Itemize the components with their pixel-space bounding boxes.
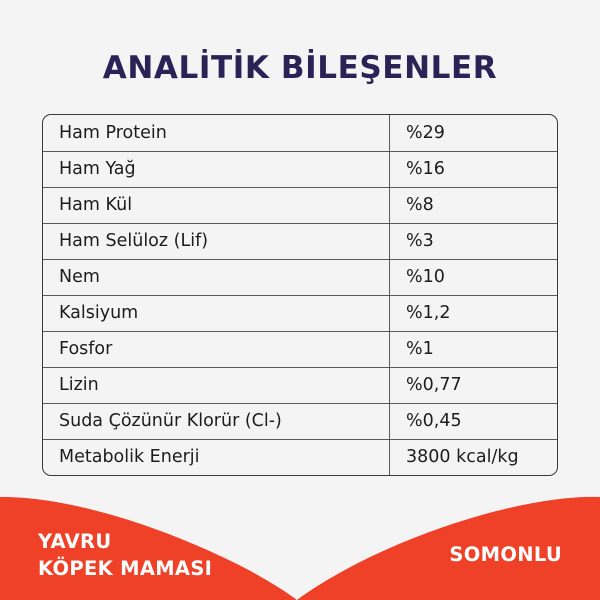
table-row: Ham Yağ %16	[43, 151, 558, 187]
row-label: Suda Çözünür Klorür (Cl-)	[43, 403, 390, 439]
row-label: Ham Yağ	[43, 151, 390, 187]
banner-flavour-label: SOMONLU	[449, 541, 562, 568]
bottom-banner: YAVRU KÖPEK MAMASI SOMONLU	[0, 485, 600, 600]
table-row: Suda Çözünür Klorür (Cl-) %0,45	[43, 403, 558, 439]
row-label: Lizin	[43, 367, 390, 403]
nutrition-table: Ham Protein %29 Ham Yağ %16 Ham Kül %8 H…	[43, 115, 558, 475]
row-label: Ham Kül	[43, 187, 390, 223]
table-row: Ham Selüloz (Lif) %3	[43, 223, 558, 259]
table-row: Nem %10	[43, 259, 558, 295]
banner-product-type: YAVRU KÖPEK MAMASI	[38, 528, 298, 582]
row-value: %10	[390, 259, 559, 295]
row-value: %29	[390, 115, 559, 151]
row-value: %8	[390, 187, 559, 223]
table-row: Kalsiyum %1,2	[43, 295, 558, 331]
row-value: %1,2	[390, 295, 559, 331]
row-value: %0,77	[390, 367, 559, 403]
row-value: %3	[390, 223, 559, 259]
row-label: Fosfor	[43, 331, 390, 367]
nutrition-table-body: Ham Protein %29 Ham Yağ %16 Ham Kül %8 H…	[43, 115, 558, 475]
row-label: Ham Protein	[43, 115, 390, 151]
table-row: Metabolik Enerji 3800 kcal/kg	[43, 439, 558, 475]
row-label: Ham Selüloz (Lif)	[43, 223, 390, 259]
analytical-constituents-table: Ham Protein %29 Ham Yağ %16 Ham Kül %8 H…	[42, 114, 558, 476]
row-value: %16	[390, 151, 559, 187]
row-label: Kalsiyum	[43, 295, 390, 331]
row-value: 3800 kcal/kg	[390, 439, 559, 475]
table-row: Lizin %0,77	[43, 367, 558, 403]
banner-line-1: YAVRU	[38, 528, 298, 555]
row-label: Nem	[43, 259, 390, 295]
row-value: %1	[390, 331, 559, 367]
table-row: Ham Kül %8	[43, 187, 558, 223]
table-row: Fosfor %1	[43, 331, 558, 367]
row-label: Metabolik Enerji	[43, 439, 390, 475]
banner-line-2: KÖPEK MAMASI	[38, 555, 298, 582]
table-row: Ham Protein %29	[43, 115, 558, 151]
page-title: ANALİTİK BİLEŞENLER	[0, 50, 600, 86]
product-label-panel: ANALİTİK BİLEŞENLER Ham Protein %29 Ham …	[0, 0, 600, 600]
row-value: %0,45	[390, 403, 559, 439]
